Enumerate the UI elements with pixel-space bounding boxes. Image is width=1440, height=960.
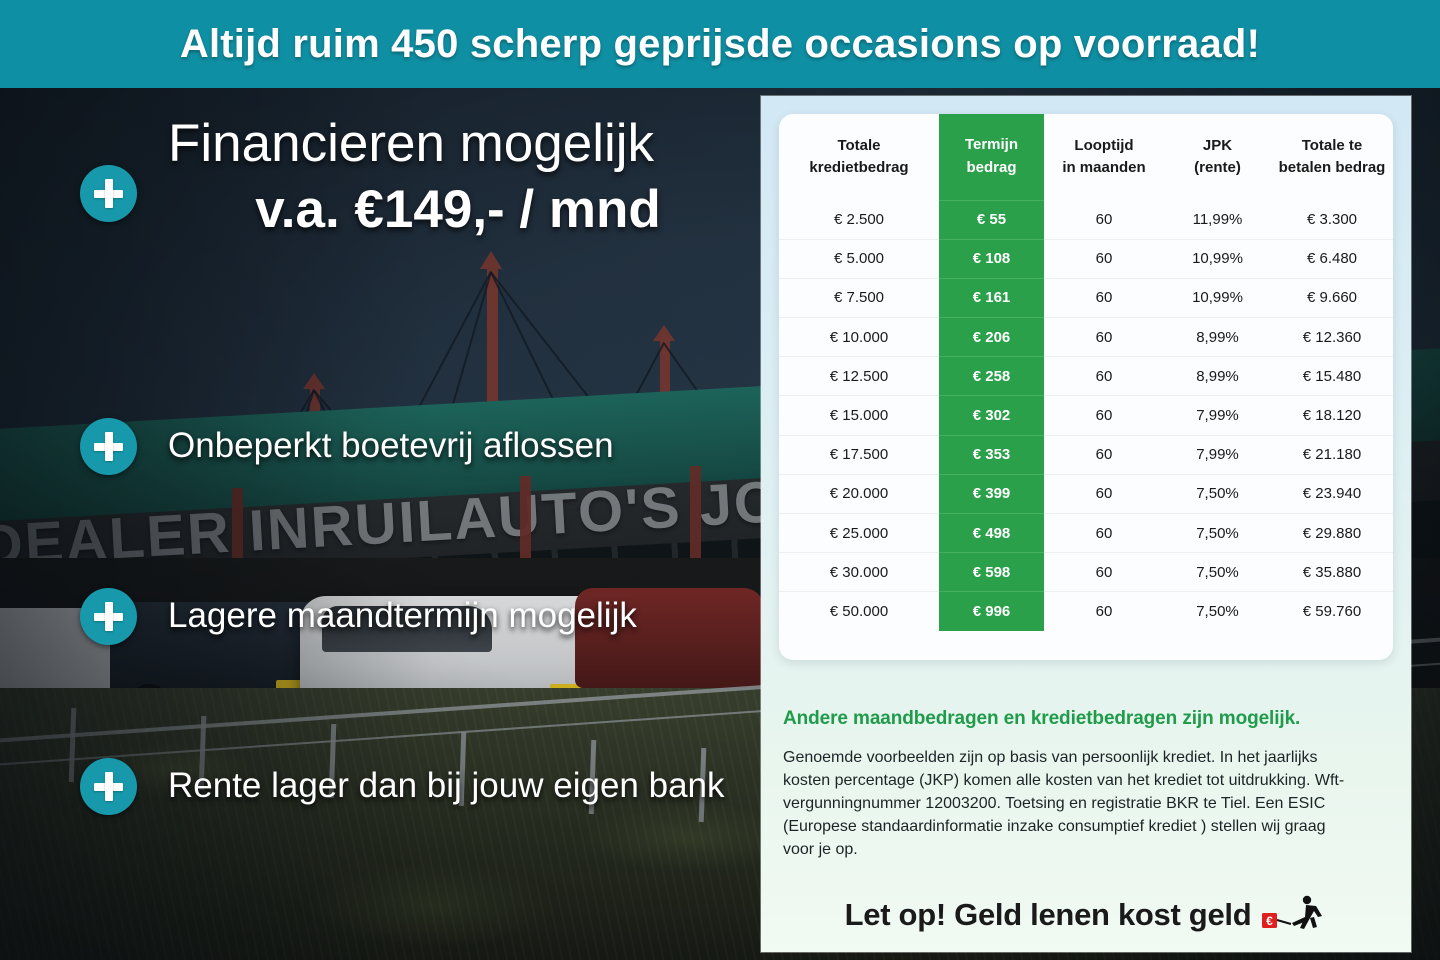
cell-krediet: € 17.500 xyxy=(779,435,939,474)
table-row: € 2.500€ 556011,99%€ 3.300 xyxy=(779,200,1393,239)
cell-totaal: € 21.180 xyxy=(1271,435,1393,474)
credit-warning-text: Let op! Geld lenen kost geld xyxy=(845,897,1252,933)
cell-termijn: € 302 xyxy=(939,396,1044,435)
cell-termijn: € 598 xyxy=(939,553,1044,592)
cell-termijn: € 399 xyxy=(939,474,1044,513)
cell-totaal: € 6.480 xyxy=(1271,239,1393,278)
col-header-krediet: Totale kredietbedrag xyxy=(779,114,939,200)
table-header-row: Totale kredietbedrag Termijn bedrag Loop… xyxy=(779,114,1393,200)
table-row: € 12.500€ 258608,99%€ 15.480 xyxy=(779,357,1393,396)
cell-looptijd: 60 xyxy=(1044,278,1164,317)
cell-termijn: € 258 xyxy=(939,357,1044,396)
col-header-line2: (rente) xyxy=(1194,159,1241,176)
cell-krediet: € 12.500 xyxy=(779,357,939,396)
col-header-line2: kredietbedrag xyxy=(809,159,908,176)
cell-totaal: € 35.880 xyxy=(1271,553,1393,592)
col-header-line2: betalen bedrag xyxy=(1279,159,1386,176)
col-header-totaal: Totale te betalen bedrag xyxy=(1271,114,1393,200)
cell-looptijd: 60 xyxy=(1044,435,1164,474)
hero-headline: Financieren mogelijk v.a. €149,- / mnd xyxy=(168,116,748,241)
table-row: € 5.000€ 1086010,99%€ 6.480 xyxy=(779,239,1393,278)
svg-text:€: € xyxy=(1267,914,1274,928)
finance-info-panel: Totale kredietbedrag Termijn bedrag Loop… xyxy=(761,96,1411,952)
table-row: € 20.000€ 399607,50%€ 23.940 xyxy=(779,474,1393,513)
col-header-line2: bedrag xyxy=(966,159,1016,176)
rates-table-body: € 2.500€ 556011,99%€ 3.300€ 5.000€ 10860… xyxy=(779,200,1393,631)
cell-krediet: € 25.000 xyxy=(779,514,939,553)
col-header-jpk: JPK (rente) xyxy=(1164,114,1271,200)
col-header-line1: Totale te xyxy=(1302,137,1363,154)
hero-copy: Financieren mogelijk v.a. €149,- / mnd O… xyxy=(0,88,770,960)
cell-looptijd: 60 xyxy=(1044,357,1164,396)
cell-totaal: € 15.480 xyxy=(1271,357,1393,396)
cell-jpk: 8,99% xyxy=(1164,318,1271,357)
cell-totaal: € 59.760 xyxy=(1271,592,1393,631)
cell-looptijd: 60 xyxy=(1044,318,1164,357)
cell-termijn: € 108 xyxy=(939,239,1044,278)
table-row: € 17.500€ 353607,99%€ 21.180 xyxy=(779,435,1393,474)
plus-icon xyxy=(80,418,137,475)
hero-bullet-2: Lagere maandtermijn mogelijk xyxy=(168,596,637,636)
cell-termijn: € 55 xyxy=(939,200,1044,239)
cell-jpk: 7,99% xyxy=(1164,396,1271,435)
cell-krediet: € 15.000 xyxy=(779,396,939,435)
plus-icon xyxy=(80,758,137,815)
cell-jpk: 11,99% xyxy=(1164,200,1271,239)
euro-box-pulled-by-walking-person-icon: € xyxy=(1261,895,1327,935)
cell-totaal: € 18.120 xyxy=(1271,396,1393,435)
cell-termijn: € 206 xyxy=(939,318,1044,357)
cell-looptijd: 60 xyxy=(1044,396,1164,435)
credit-warning: Let op! Geld lenen kost geld € xyxy=(761,878,1411,952)
table-row: € 50.000€ 996607,50%€ 59.760 xyxy=(779,592,1393,631)
cell-jpk: 7,50% xyxy=(1164,553,1271,592)
cell-totaal: € 23.940 xyxy=(1271,474,1393,513)
cell-jpk: 7,99% xyxy=(1164,435,1271,474)
cell-termijn: € 996 xyxy=(939,592,1044,631)
table-row: € 30.000€ 598607,50%€ 35.880 xyxy=(779,553,1393,592)
cell-jpk: 7,50% xyxy=(1164,474,1271,513)
cell-jpk: 10,99% xyxy=(1164,278,1271,317)
cell-looptijd: 60 xyxy=(1044,239,1164,278)
table-row: € 25.000€ 498607,50%€ 29.880 xyxy=(779,514,1393,553)
plus-icon xyxy=(80,165,137,222)
col-header-looptijd: Looptijd in maanden xyxy=(1044,114,1164,200)
cell-totaal: € 3.300 xyxy=(1271,200,1393,239)
cell-termijn: € 498 xyxy=(939,514,1044,553)
cell-krediet: € 2.500 xyxy=(779,200,939,239)
disclaimer-body: Genoemde voorbeelden zijn op basis van p… xyxy=(783,746,1361,861)
hero-title-line1: Financieren mogelijk xyxy=(168,116,748,172)
cell-looptijd: 60 xyxy=(1044,592,1164,631)
cell-looptijd: 60 xyxy=(1044,553,1164,592)
cell-krediet: € 10.000 xyxy=(779,318,939,357)
cell-krediet: € 5.000 xyxy=(779,239,939,278)
cell-krediet: € 30.000 xyxy=(779,553,939,592)
col-header-line1: Termijn xyxy=(965,136,1018,153)
cell-totaal: € 12.360 xyxy=(1271,318,1393,357)
col-header-line1: JPK xyxy=(1203,137,1232,154)
cell-krediet: € 7.500 xyxy=(779,278,939,317)
table-row: € 7.500€ 1616010,99%€ 9.660 xyxy=(779,278,1393,317)
cell-totaal: € 29.880 xyxy=(1271,514,1393,553)
promo-headline: Altijd ruim 450 scherp geprijsde occasio… xyxy=(180,22,1260,67)
cell-jpk: 10,99% xyxy=(1164,239,1271,278)
hero-bullet-3: Rente lager dan bij jouw eigen bank xyxy=(168,766,725,806)
plus-icon xyxy=(80,588,137,645)
col-header-line2: in maanden xyxy=(1062,159,1145,176)
cell-looptijd: 60 xyxy=(1044,200,1164,239)
table-row: € 15.000€ 302607,99%€ 18.120 xyxy=(779,396,1393,435)
cell-jpk: 7,50% xyxy=(1164,592,1271,631)
cell-termijn: € 161 xyxy=(939,278,1044,317)
cell-krediet: € 50.000 xyxy=(779,592,939,631)
cell-totaal: € 9.660 xyxy=(1271,278,1393,317)
cell-jpk: 7,50% xyxy=(1164,514,1271,553)
cell-krediet: € 20.000 xyxy=(779,474,939,513)
col-header-line1: Totale xyxy=(837,137,880,154)
top-promo-banner: Altijd ruim 450 scherp geprijsde occasio… xyxy=(0,0,1440,88)
cell-looptijd: 60 xyxy=(1044,474,1164,513)
rates-table: Totale kredietbedrag Termijn bedrag Loop… xyxy=(779,114,1393,631)
ad-banner-stage: Altijd ruim 450 scherp geprijsde occasio… xyxy=(0,0,1440,960)
cell-jpk: 8,99% xyxy=(1164,357,1271,396)
hero-bullet-1: Onbeperkt boetevrij aflossen xyxy=(168,426,614,466)
hero-title-line2: v.a. €149,- / mnd xyxy=(168,180,748,241)
col-header-line1: Looptijd xyxy=(1074,137,1133,154)
disclaimer-heading: Andere maandbedragen en kredietbedragen … xyxy=(783,708,1383,730)
rates-table-card: Totale kredietbedrag Termijn bedrag Loop… xyxy=(779,114,1393,660)
cell-termijn: € 353 xyxy=(939,435,1044,474)
col-header-termijn: Termijn bedrag xyxy=(939,114,1044,200)
table-row: € 10.000€ 206608,99%€ 12.360 xyxy=(779,318,1393,357)
cell-looptijd: 60 xyxy=(1044,514,1164,553)
